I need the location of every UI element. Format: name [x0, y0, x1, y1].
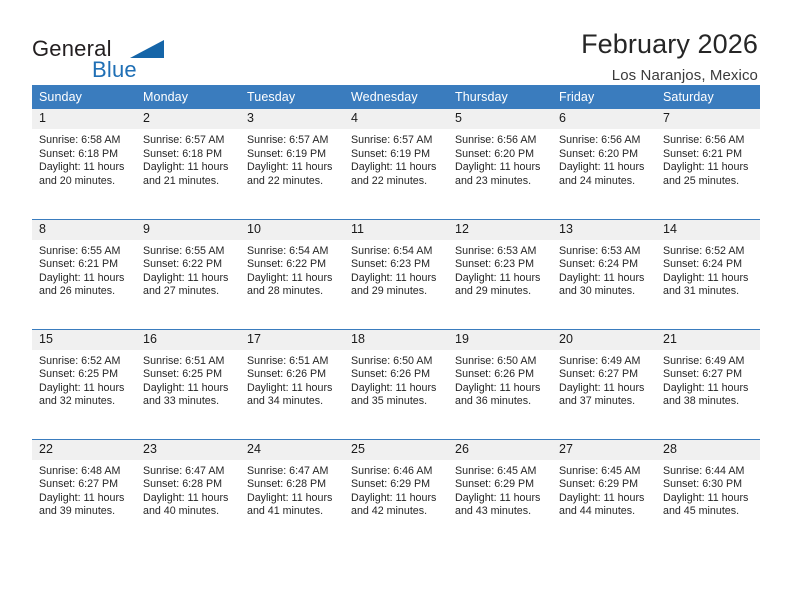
day-details: Sunrise: 6:48 AM Sunset: 6:27 PM Dayligh…: [32, 460, 136, 519]
day-number: 10: [240, 220, 344, 237]
daylight-text-line2: and 27 minutes.: [143, 285, 232, 299]
sunset-text: Sunset: 6:23 PM: [455, 258, 544, 272]
sunrise-text: Sunrise: 6:54 AM: [247, 245, 336, 259]
sunrise-text: Sunrise: 6:52 AM: [663, 245, 752, 259]
sunrise-text: Sunrise: 6:47 AM: [143, 465, 232, 479]
day-details: Sunrise: 6:55 AM Sunset: 6:22 PM Dayligh…: [136, 240, 240, 299]
calendar-day-cell[interactable]: 14 Sunrise: 6:52 AM Sunset: 6:24 PM Dayl…: [656, 219, 760, 329]
weekday-header-wednesday: Wednesday: [344, 85, 448, 109]
calendar-day-cell[interactable]: 26 Sunrise: 6:45 AM Sunset: 6:29 PM Dayl…: [448, 439, 552, 549]
daylight-text-line1: Daylight: 11 hours: [559, 382, 648, 396]
daylight-text-line1: Daylight: 11 hours: [247, 272, 336, 286]
sunrise-text: Sunrise: 6:58 AM: [39, 134, 128, 148]
day-number-band: 13: [552, 220, 656, 240]
daylight-text-line1: Daylight: 11 hours: [143, 161, 232, 175]
day-number: 8: [32, 220, 136, 237]
daylight-text-line2: and 31 minutes.: [663, 285, 752, 299]
sunset-text: Sunset: 6:19 PM: [351, 148, 440, 162]
day-details: Sunrise: 6:45 AM Sunset: 6:29 PM Dayligh…: [448, 460, 552, 519]
sunrise-text: Sunrise: 6:45 AM: [559, 465, 648, 479]
daylight-text-line2: and 21 minutes.: [143, 175, 232, 189]
daylight-text-line1: Daylight: 11 hours: [455, 492, 544, 506]
calendar-day-cell[interactable]: 13 Sunrise: 6:53 AM Sunset: 6:24 PM Dayl…: [552, 219, 656, 329]
daylight-text-line1: Daylight: 11 hours: [351, 272, 440, 286]
calendar-day-cell[interactable]: 15 Sunrise: 6:52 AM Sunset: 6:25 PM Dayl…: [32, 329, 136, 439]
calendar-day-cell[interactable]: 23 Sunrise: 6:47 AM Sunset: 6:28 PM Dayl…: [136, 439, 240, 549]
day-details: Sunrise: 6:57 AM Sunset: 6:19 PM Dayligh…: [240, 129, 344, 188]
daylight-text-line2: and 28 minutes.: [247, 285, 336, 299]
day-number: 6: [552, 109, 656, 126]
day-number-band: 6: [552, 109, 656, 129]
day-number-band: 19: [448, 330, 552, 350]
sunrise-text: Sunrise: 6:52 AM: [39, 355, 128, 369]
page-title: February 2026: [581, 30, 758, 58]
daylight-text-line2: and 42 minutes.: [351, 505, 440, 519]
sunset-text: Sunset: 6:27 PM: [663, 368, 752, 382]
calendar-week-row: 22 Sunrise: 6:48 AM Sunset: 6:27 PM Dayl…: [32, 439, 760, 549]
daylight-text-line1: Daylight: 11 hours: [351, 161, 440, 175]
day-number: 12: [448, 220, 552, 237]
calendar-day-cell[interactable]: 24 Sunrise: 6:47 AM Sunset: 6:28 PM Dayl…: [240, 439, 344, 549]
sunrise-text: Sunrise: 6:49 AM: [559, 355, 648, 369]
day-number: 7: [656, 109, 760, 126]
day-number: 28: [656, 440, 760, 457]
day-details: Sunrise: 6:56 AM Sunset: 6:21 PM Dayligh…: [656, 129, 760, 188]
day-number-band: 14: [656, 220, 760, 240]
weekday-header-tuesday: Tuesday: [240, 85, 344, 109]
calendar-day-cell[interactable]: 21 Sunrise: 6:49 AM Sunset: 6:27 PM Dayl…: [656, 329, 760, 439]
calendar-day-cell[interactable]: 7 Sunrise: 6:56 AM Sunset: 6:21 PM Dayli…: [656, 109, 760, 219]
brand-logo[interactable]: General Blue: [32, 30, 212, 86]
daylight-text-line1: Daylight: 11 hours: [39, 272, 128, 286]
daylight-text-line1: Daylight: 11 hours: [39, 492, 128, 506]
daylight-text-line1: Daylight: 11 hours: [559, 161, 648, 175]
sunset-text: Sunset: 6:29 PM: [455, 478, 544, 492]
daylight-text-line1: Daylight: 11 hours: [247, 382, 336, 396]
day-number-band: 10: [240, 220, 344, 240]
day-details: Sunrise: 6:52 AM Sunset: 6:25 PM Dayligh…: [32, 350, 136, 409]
daylight-text-line2: and 41 minutes.: [247, 505, 336, 519]
daylight-text-line1: Daylight: 11 hours: [143, 492, 232, 506]
sunset-text: Sunset: 6:20 PM: [559, 148, 648, 162]
weekday-header-monday: Monday: [136, 85, 240, 109]
daylight-text-line2: and 30 minutes.: [559, 285, 648, 299]
sunset-text: Sunset: 6:20 PM: [455, 148, 544, 162]
day-details: Sunrise: 6:54 AM Sunset: 6:22 PM Dayligh…: [240, 240, 344, 299]
calendar-day-cell[interactable]: 17 Sunrise: 6:51 AM Sunset: 6:26 PM Dayl…: [240, 329, 344, 439]
sunset-text: Sunset: 6:29 PM: [351, 478, 440, 492]
day-details: Sunrise: 6:44 AM Sunset: 6:30 PM Dayligh…: [656, 460, 760, 519]
day-details: Sunrise: 6:55 AM Sunset: 6:21 PM Dayligh…: [32, 240, 136, 299]
sunset-text: Sunset: 6:25 PM: [143, 368, 232, 382]
day-details: Sunrise: 6:51 AM Sunset: 6:26 PM Dayligh…: [240, 350, 344, 409]
day-number-band: 27: [552, 440, 656, 460]
sunset-text: Sunset: 6:26 PM: [351, 368, 440, 382]
sunset-text: Sunset: 6:27 PM: [559, 368, 648, 382]
calendar-day-cell[interactable]: 22 Sunrise: 6:48 AM Sunset: 6:27 PM Dayl…: [32, 439, 136, 549]
sunrise-text: Sunrise: 6:57 AM: [351, 134, 440, 148]
sunset-text: Sunset: 6:30 PM: [663, 478, 752, 492]
day-number-band: 11: [344, 220, 448, 240]
sunset-text: Sunset: 6:19 PM: [247, 148, 336, 162]
day-number-band: 2: [136, 109, 240, 129]
day-details: Sunrise: 6:51 AM Sunset: 6:25 PM Dayligh…: [136, 350, 240, 409]
calendar-day-cell[interactable]: 11 Sunrise: 6:54 AM Sunset: 6:23 PM Dayl…: [344, 219, 448, 329]
sunset-text: Sunset: 6:26 PM: [247, 368, 336, 382]
sunrise-text: Sunrise: 6:57 AM: [143, 134, 232, 148]
day-details: Sunrise: 6:47 AM Sunset: 6:28 PM Dayligh…: [136, 460, 240, 519]
day-number-band: 4: [344, 109, 448, 129]
title-block: February 2026 Los Naranjos, Mexico: [581, 30, 760, 84]
daylight-text-line2: and 22 minutes.: [247, 175, 336, 189]
day-number-band: 1: [32, 109, 136, 129]
day-number: 2: [136, 109, 240, 126]
day-number-band: 22: [32, 440, 136, 460]
daylight-text-line1: Daylight: 11 hours: [455, 382, 544, 396]
day-number-band: 24: [240, 440, 344, 460]
day-number-band: 28: [656, 440, 760, 460]
calendar-day-cell[interactable]: 1 Sunrise: 6:58 AM Sunset: 6:18 PM Dayli…: [32, 109, 136, 219]
calendar-day-cell[interactable]: 6 Sunrise: 6:56 AM Sunset: 6:20 PM Dayli…: [552, 109, 656, 219]
day-details: Sunrise: 6:46 AM Sunset: 6:29 PM Dayligh…: [344, 460, 448, 519]
daylight-text-line2: and 44 minutes.: [559, 505, 648, 519]
sunset-text: Sunset: 6:21 PM: [39, 258, 128, 272]
sunset-text: Sunset: 6:18 PM: [39, 148, 128, 162]
sunrise-text: Sunrise: 6:50 AM: [351, 355, 440, 369]
sunset-text: Sunset: 6:24 PM: [663, 258, 752, 272]
sunset-text: Sunset: 6:28 PM: [247, 478, 336, 492]
daylight-text-line1: Daylight: 11 hours: [559, 492, 648, 506]
sunset-text: Sunset: 6:22 PM: [143, 258, 232, 272]
sunrise-text: Sunrise: 6:56 AM: [663, 134, 752, 148]
day-number-band: 8: [32, 220, 136, 240]
sunrise-text: Sunrise: 6:49 AM: [663, 355, 752, 369]
day-number-band: 21: [656, 330, 760, 350]
sunrise-text: Sunrise: 6:55 AM: [143, 245, 232, 259]
daylight-text-line1: Daylight: 11 hours: [663, 161, 752, 175]
day-number: 5: [448, 109, 552, 126]
sunrise-text: Sunrise: 6:46 AM: [351, 465, 440, 479]
daylight-text-line2: and 37 minutes.: [559, 395, 648, 409]
calendar-day-cell[interactable]: 9 Sunrise: 6:55 AM Sunset: 6:22 PM Dayli…: [136, 219, 240, 329]
day-details: Sunrise: 6:56 AM Sunset: 6:20 PM Dayligh…: [448, 129, 552, 188]
daylight-text-line2: and 26 minutes.: [39, 285, 128, 299]
calendar-day-cell[interactable]: 3 Sunrise: 6:57 AM Sunset: 6:19 PM Dayli…: [240, 109, 344, 219]
day-number-band: 16: [136, 330, 240, 350]
day-details: Sunrise: 6:58 AM Sunset: 6:18 PM Dayligh…: [32, 129, 136, 188]
day-details: Sunrise: 6:57 AM Sunset: 6:19 PM Dayligh…: [344, 129, 448, 188]
sunrise-text: Sunrise: 6:53 AM: [559, 245, 648, 259]
calendar-week-row: 8 Sunrise: 6:55 AM Sunset: 6:21 PM Dayli…: [32, 219, 760, 329]
day-details: Sunrise: 6:49 AM Sunset: 6:27 PM Dayligh…: [552, 350, 656, 409]
page-header: General Blue February 2026 Los Naranjos,…: [32, 0, 760, 74]
day-number: 26: [448, 440, 552, 457]
day-number-band: 15: [32, 330, 136, 350]
daylight-text-line2: and 22 minutes.: [351, 175, 440, 189]
calendar-week-row: 1 Sunrise: 6:58 AM Sunset: 6:18 PM Dayli…: [32, 109, 760, 219]
calendar-day-cell[interactable]: 16 Sunrise: 6:51 AM Sunset: 6:25 PM Dayl…: [136, 329, 240, 439]
day-details: Sunrise: 6:53 AM Sunset: 6:24 PM Dayligh…: [552, 240, 656, 299]
sunrise-text: Sunrise: 6:55 AM: [39, 245, 128, 259]
day-number-band: 18: [344, 330, 448, 350]
daylight-text-line1: Daylight: 11 hours: [663, 382, 752, 396]
sunrise-text: Sunrise: 6:56 AM: [559, 134, 648, 148]
sunset-text: Sunset: 6:28 PM: [143, 478, 232, 492]
daylight-text-line2: and 23 minutes.: [455, 175, 544, 189]
daylight-text-line1: Daylight: 11 hours: [559, 272, 648, 286]
calendar-day-cell[interactable]: 5 Sunrise: 6:56 AM Sunset: 6:20 PM Dayli…: [448, 109, 552, 219]
sunrise-text: Sunrise: 6:51 AM: [247, 355, 336, 369]
calendar-day-cell[interactable]: 8 Sunrise: 6:55 AM Sunset: 6:21 PM Dayli…: [32, 219, 136, 329]
day-number-band: 26: [448, 440, 552, 460]
brand-name-secondary: Blue: [92, 57, 137, 83]
day-details: Sunrise: 6:45 AM Sunset: 6:29 PM Dayligh…: [552, 460, 656, 519]
daylight-text-line2: and 33 minutes.: [143, 395, 232, 409]
day-number: 17: [240, 330, 344, 347]
sunrise-text: Sunrise: 6:54 AM: [351, 245, 440, 259]
day-number: 22: [32, 440, 136, 457]
daylight-text-line1: Daylight: 11 hours: [351, 492, 440, 506]
day-number-band: 20: [552, 330, 656, 350]
calendar-day-cell[interactable]: 4 Sunrise: 6:57 AM Sunset: 6:19 PM Dayli…: [344, 109, 448, 219]
day-number: 3: [240, 109, 344, 126]
day-number-band: 3: [240, 109, 344, 129]
day-details: Sunrise: 6:47 AM Sunset: 6:28 PM Dayligh…: [240, 460, 344, 519]
day-number: 11: [344, 220, 448, 237]
calendar-header-row: Sunday Monday Tuesday Wednesday Thursday…: [32, 85, 760, 109]
sunrise-text: Sunrise: 6:51 AM: [143, 355, 232, 369]
day-number: 16: [136, 330, 240, 347]
sunset-text: Sunset: 6:25 PM: [39, 368, 128, 382]
sunset-text: Sunset: 6:23 PM: [351, 258, 440, 272]
day-number: 4: [344, 109, 448, 126]
day-number: 1: [32, 109, 136, 126]
sunset-text: Sunset: 6:29 PM: [559, 478, 648, 492]
calendar-day-cell[interactable]: 28 Sunrise: 6:44 AM Sunset: 6:30 PM Dayl…: [656, 439, 760, 549]
calendar-body: 1 Sunrise: 6:58 AM Sunset: 6:18 PM Dayli…: [32, 109, 760, 549]
calendar-day-cell[interactable]: 27 Sunrise: 6:45 AM Sunset: 6:29 PM Dayl…: [552, 439, 656, 549]
sunset-text: Sunset: 6:24 PM: [559, 258, 648, 272]
daylight-text-line1: Daylight: 11 hours: [663, 272, 752, 286]
daylight-text-line1: Daylight: 11 hours: [247, 492, 336, 506]
daylight-text-line2: and 29 minutes.: [351, 285, 440, 299]
sunset-text: Sunset: 6:22 PM: [247, 258, 336, 272]
day-number: 19: [448, 330, 552, 347]
calendar-table: Sunday Monday Tuesday Wednesday Thursday…: [32, 85, 760, 549]
day-number: 13: [552, 220, 656, 237]
sunset-text: Sunset: 6:27 PM: [39, 478, 128, 492]
sunrise-text: Sunrise: 6:48 AM: [39, 465, 128, 479]
daylight-text-line2: and 39 minutes.: [39, 505, 128, 519]
daylight-text-line2: and 24 minutes.: [559, 175, 648, 189]
daylight-text-line1: Daylight: 11 hours: [143, 272, 232, 286]
daylight-text-line1: Daylight: 11 hours: [39, 161, 128, 175]
day-number-band: 9: [136, 220, 240, 240]
daylight-text-line2: and 34 minutes.: [247, 395, 336, 409]
calendar-week-row: 15 Sunrise: 6:52 AM Sunset: 6:25 PM Dayl…: [32, 329, 760, 439]
weekday-header-friday: Friday: [552, 85, 656, 109]
weekday-header-sunday: Sunday: [32, 85, 136, 109]
sunrise-text: Sunrise: 6:47 AM: [247, 465, 336, 479]
sunset-text: Sunset: 6:26 PM: [455, 368, 544, 382]
daylight-text-line2: and 38 minutes.: [663, 395, 752, 409]
daylight-text-line1: Daylight: 11 hours: [247, 161, 336, 175]
sunrise-text: Sunrise: 6:56 AM: [455, 134, 544, 148]
calendar-page: General Blue February 2026 Los Naranjos,…: [0, 0, 792, 612]
day-number: 18: [344, 330, 448, 347]
day-number-band: 12: [448, 220, 552, 240]
daylight-text-line2: and 25 minutes.: [663, 175, 752, 189]
day-number: 15: [32, 330, 136, 347]
day-number-band: 7: [656, 109, 760, 129]
day-number-band: 17: [240, 330, 344, 350]
day-number-band: 23: [136, 440, 240, 460]
day-details: Sunrise: 6:50 AM Sunset: 6:26 PM Dayligh…: [344, 350, 448, 409]
daylight-text-line2: and 45 minutes.: [663, 505, 752, 519]
daylight-text-line2: and 35 minutes.: [351, 395, 440, 409]
calendar-day-cell[interactable]: 25 Sunrise: 6:46 AM Sunset: 6:29 PM Dayl…: [344, 439, 448, 549]
day-details: Sunrise: 6:57 AM Sunset: 6:18 PM Dayligh…: [136, 129, 240, 188]
day-details: Sunrise: 6:54 AM Sunset: 6:23 PM Dayligh…: [344, 240, 448, 299]
day-details: Sunrise: 6:50 AM Sunset: 6:26 PM Dayligh…: [448, 350, 552, 409]
day-number: 20: [552, 330, 656, 347]
day-number: 23: [136, 440, 240, 457]
day-number: 25: [344, 440, 448, 457]
calendar-day-cell[interactable]: 19 Sunrise: 6:50 AM Sunset: 6:26 PM Dayl…: [448, 329, 552, 439]
daylight-text-line2: and 40 minutes.: [143, 505, 232, 519]
sunrise-text: Sunrise: 6:57 AM: [247, 134, 336, 148]
day-details: Sunrise: 6:53 AM Sunset: 6:23 PM Dayligh…: [448, 240, 552, 299]
daylight-text-line2: and 32 minutes.: [39, 395, 128, 409]
daylight-text-line1: Daylight: 11 hours: [663, 492, 752, 506]
day-details: Sunrise: 6:56 AM Sunset: 6:20 PM Dayligh…: [552, 129, 656, 188]
day-number: 9: [136, 220, 240, 237]
daylight-text-line1: Daylight: 11 hours: [143, 382, 232, 396]
calendar-day-cell[interactable]: 12 Sunrise: 6:53 AM Sunset: 6:23 PM Dayl…: [448, 219, 552, 329]
day-number-band: 25: [344, 440, 448, 460]
daylight-text-line2: and 20 minutes.: [39, 175, 128, 189]
sunrise-text: Sunrise: 6:44 AM: [663, 465, 752, 479]
daylight-text-line1: Daylight: 11 hours: [455, 272, 544, 286]
sunset-text: Sunset: 6:21 PM: [663, 148, 752, 162]
sunset-text: Sunset: 6:18 PM: [143, 148, 232, 162]
day-number: 21: [656, 330, 760, 347]
daylight-text-line2: and 43 minutes.: [455, 505, 544, 519]
sunrise-text: Sunrise: 6:50 AM: [455, 355, 544, 369]
daylight-text-line1: Daylight: 11 hours: [39, 382, 128, 396]
triangle-icon: [130, 40, 164, 58]
calendar-day-cell[interactable]: 2 Sunrise: 6:57 AM Sunset: 6:18 PM Dayli…: [136, 109, 240, 219]
weekday-header-thursday: Thursday: [448, 85, 552, 109]
daylight-text-line1: Daylight: 11 hours: [351, 382, 440, 396]
sunrise-text: Sunrise: 6:45 AM: [455, 465, 544, 479]
calendar-day-cell[interactable]: 18 Sunrise: 6:50 AM Sunset: 6:26 PM Dayl…: [344, 329, 448, 439]
day-number: 14: [656, 220, 760, 237]
day-details: Sunrise: 6:49 AM Sunset: 6:27 PM Dayligh…: [656, 350, 760, 409]
daylight-text-line2: and 36 minutes.: [455, 395, 544, 409]
page-subtitle: Los Naranjos, Mexico: [581, 67, 758, 84]
calendar-day-cell[interactable]: 20 Sunrise: 6:49 AM Sunset: 6:27 PM Dayl…: [552, 329, 656, 439]
day-number-band: 5: [448, 109, 552, 129]
day-number: 27: [552, 440, 656, 457]
daylight-text-line1: Daylight: 11 hours: [455, 161, 544, 175]
calendar-day-cell[interactable]: 10 Sunrise: 6:54 AM Sunset: 6:22 PM Dayl…: [240, 219, 344, 329]
sunrise-text: Sunrise: 6:53 AM: [455, 245, 544, 259]
day-number: 24: [240, 440, 344, 457]
day-details: Sunrise: 6:52 AM Sunset: 6:24 PM Dayligh…: [656, 240, 760, 299]
weekday-header-saturday: Saturday: [656, 85, 760, 109]
daylight-text-line2: and 29 minutes.: [455, 285, 544, 299]
